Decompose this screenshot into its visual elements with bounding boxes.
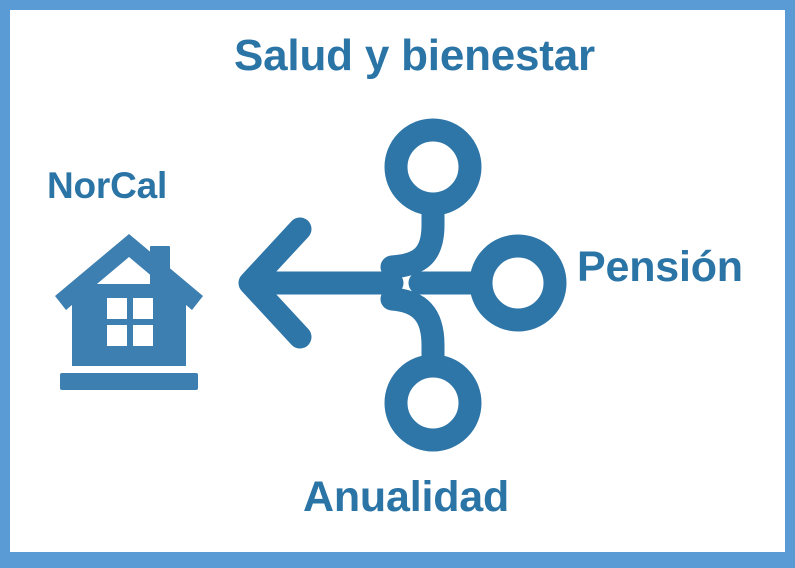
house-icon <box>50 224 208 399</box>
label-norcal: NorCal <box>47 167 167 204</box>
merge-arrow-icon <box>220 105 580 465</box>
house-base-bar <box>60 373 198 390</box>
label-salud-y-bienestar: Salud y bienestar <box>234 34 595 78</box>
connector-bottom <box>392 299 433 366</box>
slide-canvas: Salud y bienestar NorCal Pensión Anualid… <box>10 10 785 552</box>
house-body <box>72 284 186 366</box>
slide-frame: Salud y bienestar NorCal Pensión Anualid… <box>0 0 795 568</box>
connector-top <box>392 204 433 267</box>
label-pension: Pensión <box>577 246 743 289</box>
label-anualidad: Anualidad <box>303 476 509 519</box>
